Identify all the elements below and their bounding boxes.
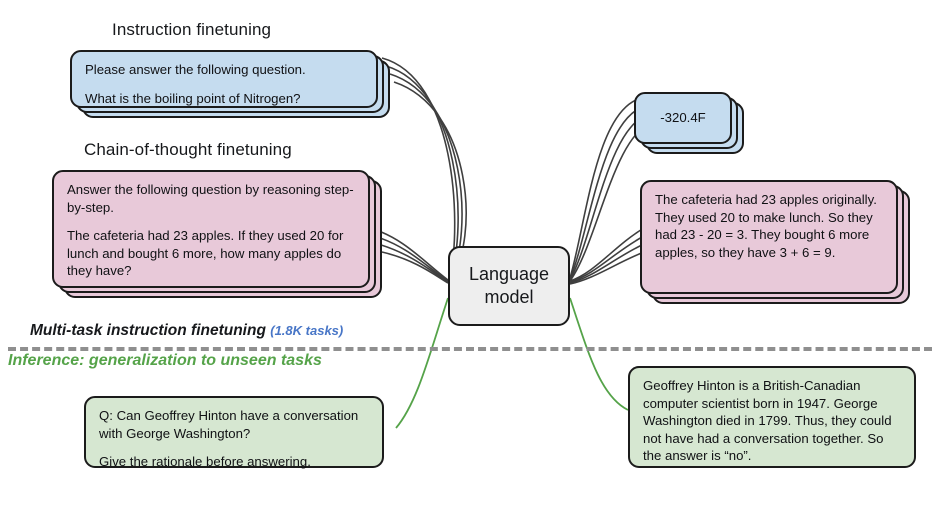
instruction-input-text: Please answer the following question. Wh… bbox=[70, 50, 378, 108]
instruction-output-value: -320.4F bbox=[660, 109, 705, 127]
figure-canvas: Instruction finetuning Please answer the… bbox=[0, 0, 940, 507]
cot-input-text: Answer the following question by reasoni… bbox=[52, 170, 370, 288]
language-model-label-line-1: Language bbox=[469, 263, 549, 286]
inference-input-text: Q: Can Geoffrey Hinton have a conversati… bbox=[84, 396, 384, 468]
multitask-task-count: (1.8K tasks) bbox=[270, 323, 343, 338]
train-inference-divider bbox=[8, 347, 932, 351]
chain-of-thought-finetuning-title: Chain-of-thought finetuning bbox=[84, 140, 292, 160]
multitask-caption: Multi-task instruction finetuning (1.8K … bbox=[30, 322, 343, 340]
inference-input-line-2: Give the rationale before answering. bbox=[99, 453, 371, 471]
instruction-input-line-2: What is the boiling point of Nitrogen? bbox=[85, 90, 365, 108]
inference-input-line-1: Q: Can Geoffrey Hinton have a conversati… bbox=[99, 407, 371, 442]
instruction-output-text: -320.4F bbox=[634, 92, 732, 144]
instruction-output-card-stack[interactable]: -320.4F bbox=[634, 92, 744, 154]
cot-output-line-1: The cafeteria had 23 apples originally. … bbox=[655, 191, 885, 261]
cot-output-card-stack[interactable]: The cafeteria had 23 apples originally. … bbox=[640, 180, 910, 304]
language-model-label-line-2: model bbox=[469, 286, 549, 309]
inference-caption: Inference: generalization to unseen task… bbox=[8, 352, 322, 370]
language-model-label: Language model bbox=[469, 263, 549, 309]
instruction-input-line-1: Please answer the following question. bbox=[85, 61, 365, 79]
cot-output-text: The cafeteria had 23 apples originally. … bbox=[640, 180, 898, 294]
inference-input-card[interactable]: Q: Can Geoffrey Hinton have a conversati… bbox=[84, 396, 384, 468]
cot-input-card-stack[interactable]: Answer the following question by reasoni… bbox=[52, 170, 382, 298]
inference-output-text: Geoffrey Hinton is a British-Canadian co… bbox=[628, 366, 916, 468]
instruction-finetuning-title: Instruction finetuning bbox=[112, 20, 271, 40]
instruction-input-card-stack[interactable]: Please answer the following question. Wh… bbox=[70, 50, 390, 118]
cot-input-line-2: The cafeteria had 23 apples. If they use… bbox=[67, 227, 357, 280]
multitask-caption-text: Multi-task instruction finetuning bbox=[30, 322, 266, 339]
language-model-node[interactable]: Language model bbox=[448, 246, 570, 326]
inference-output-line-1: Geoffrey Hinton is a British-Canadian co… bbox=[643, 377, 903, 465]
cot-input-line-1: Answer the following question by reasoni… bbox=[67, 181, 357, 216]
inference-output-card[interactable]: Geoffrey Hinton is a British-Canadian co… bbox=[628, 366, 916, 468]
